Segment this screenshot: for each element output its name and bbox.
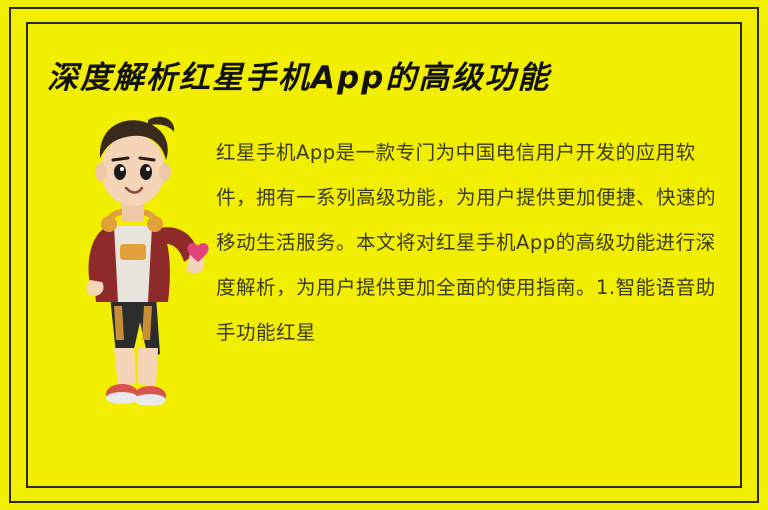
- body-paragraph: 红星手机App是一款专门为中国电信用户开发的应用软件，拥有一系列高级功能，为用户…: [216, 130, 726, 355]
- poster-page: 深度解析红星手机App的高级功能: [0, 0, 768, 510]
- cartoon-boy-character: [52, 96, 212, 426]
- character-illustration: [52, 96, 212, 426]
- page-title: 深度解析红星手机App的高级功能: [47, 60, 737, 97]
